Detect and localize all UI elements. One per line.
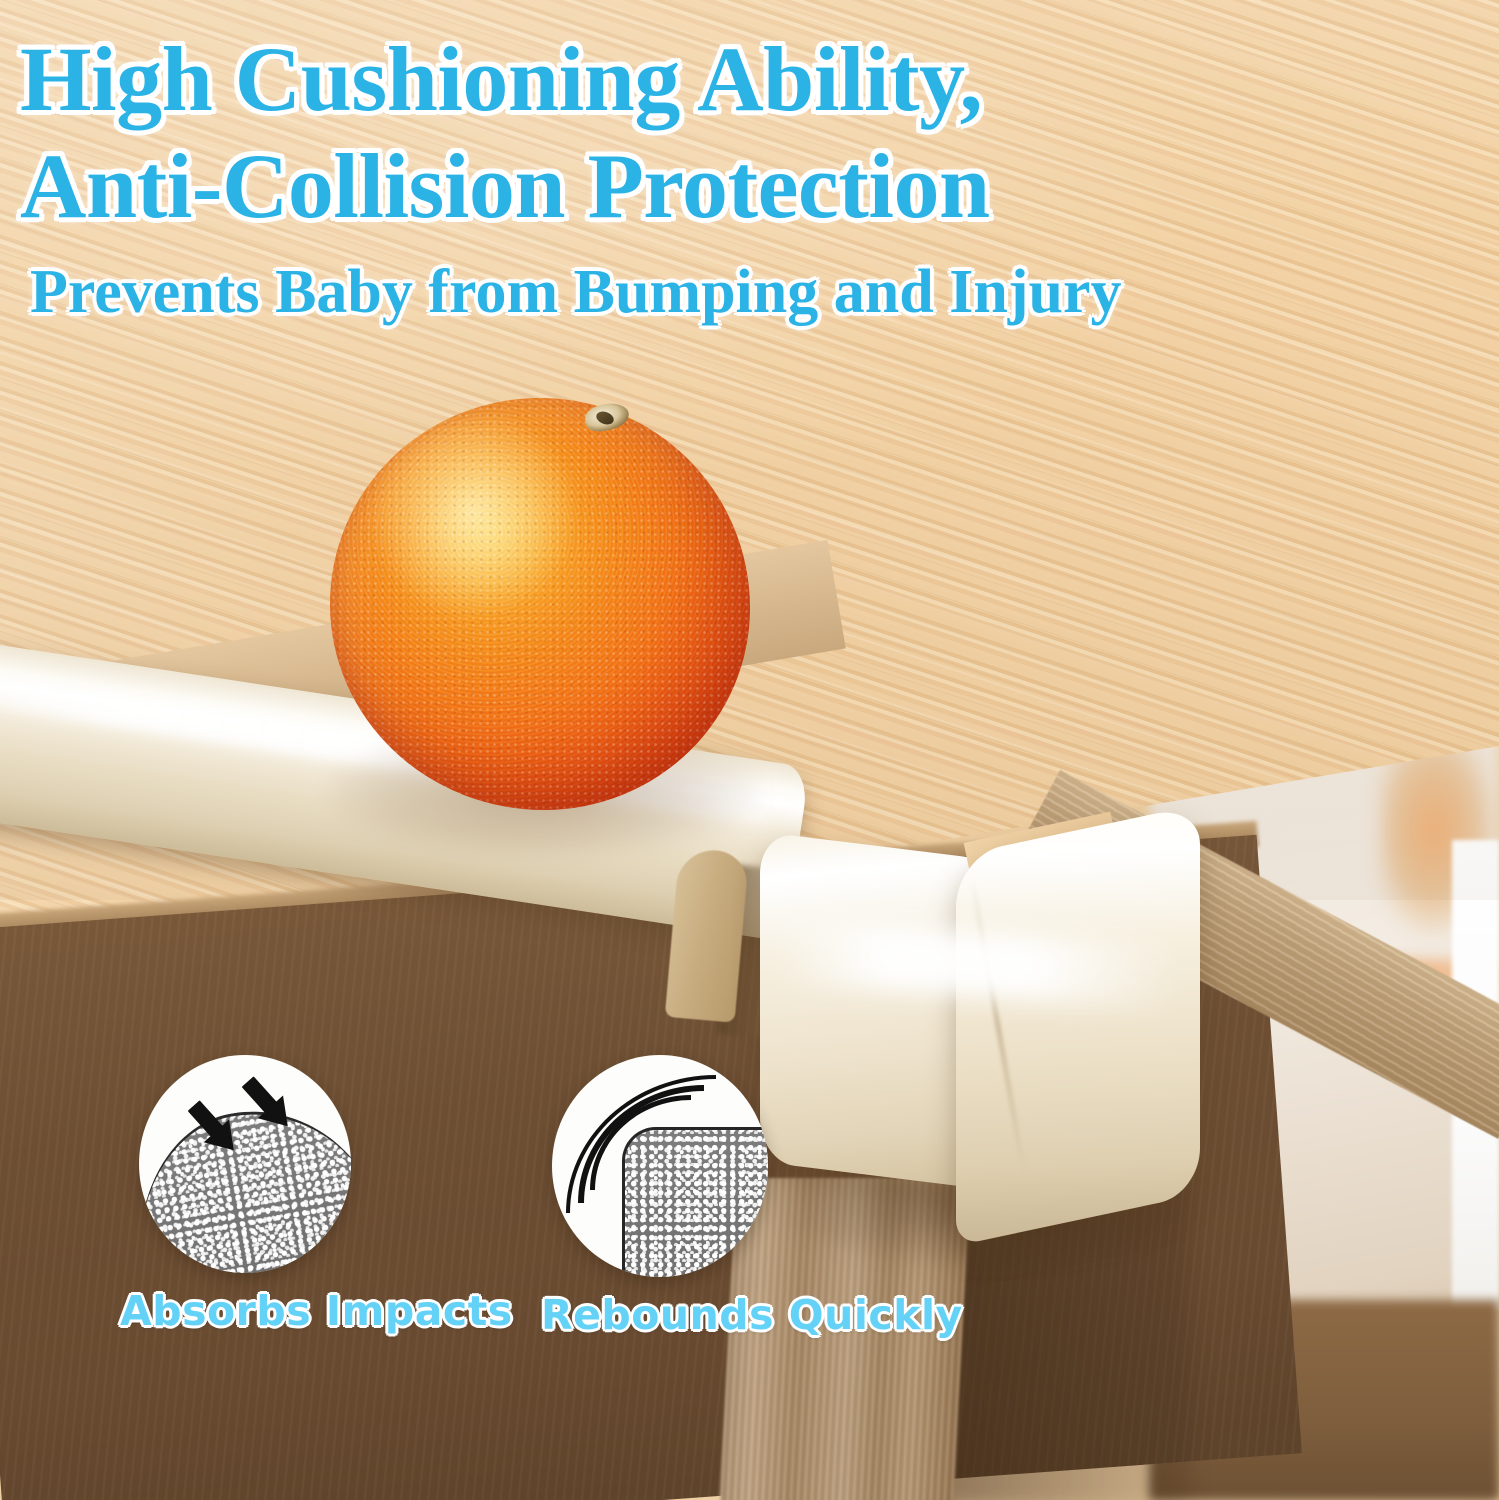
feature-badge-absorbs-impacts: Absorbs Impacts	[120, 1055, 370, 1335]
feature-badges: Absorbs Impacts Rebounds Quickly	[120, 1055, 910, 1345]
feature-badge-rebounds-quickly: Rebounds Quickly	[535, 1055, 785, 1339]
headline-line-1: High Cushioning Ability,	[20, 26, 1220, 133]
rebound-arcs-on-foam-corner-icon	[552, 1055, 768, 1277]
orange-rim-shading	[330, 398, 750, 810]
orange-fruit	[330, 398, 750, 810]
badge-label-rebounds-quickly: Rebounds Quickly	[541, 1291, 785, 1339]
badge-label-absorbs-impacts: Absorbs Impacts	[120, 1287, 370, 1335]
impact-arrows-on-foam-icon	[139, 1055, 351, 1273]
headline: High Cushioning Ability, Anti-Collision …	[20, 26, 1220, 239]
corner-guard-right-arm	[956, 804, 1200, 1246]
subheadline: Prevents Baby from Bumping and Injury	[30, 258, 1330, 326]
rebound-arc-outer	[566, 1075, 716, 1213]
headline-line-2: Anti-Collision Protection	[20, 133, 1220, 240]
foam-surface-shape	[139, 1091, 351, 1273]
product-marketing-image: High Cushioning Ability, Anti-Collision …	[0, 0, 1499, 1500]
